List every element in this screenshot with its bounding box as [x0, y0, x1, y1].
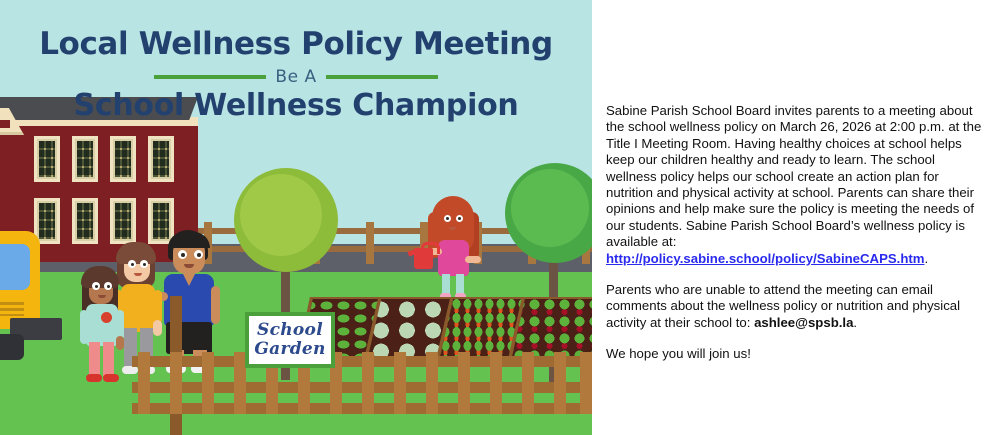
tree-highlight-right	[511, 169, 589, 247]
announcement-text-panel: Sabine Parish School Board invites paren…	[606, 103, 986, 363]
paragraph-2-period: .	[853, 315, 857, 330]
poster-tagline: Be A	[275, 67, 316, 87]
paragraph-1-text: Sabine Parish School Board invites paren…	[606, 103, 981, 249]
front-fence	[132, 352, 592, 414]
page-root: School Garden Local Wellness Policy Meet…	[0, 0, 1000, 435]
poster-headline-group: Local Wellness Policy Meeting Be A Schoo…	[0, 26, 592, 123]
school-bus-window	[0, 244, 30, 290]
school-bus-wheel	[0, 334, 24, 360]
girl-watering-figure	[424, 196, 482, 302]
apple-graphic	[101, 312, 112, 323]
school-window	[148, 136, 174, 182]
school-window	[72, 136, 98, 182]
poster-title-line-1: Local Wellness Policy Meeting	[0, 26, 592, 62]
poster-title-line-2: School Wellness Champion	[0, 89, 592, 123]
paragraph-1-period: .	[925, 251, 929, 266]
policy-link[interactable]: http://policy.sabine.school/policy/Sabin…	[606, 251, 925, 266]
sign-line-1: School	[257, 321, 323, 340]
school-window	[34, 136, 60, 182]
school-garden-sign: School Garden	[245, 312, 335, 368]
paragraph-meeting-details: Sabine Parish School Board invites paren…	[606, 103, 986, 267]
paragraph-closing: We hope you will join us!	[606, 346, 986, 362]
sign-line-2: Garden	[254, 340, 325, 359]
school-window	[110, 136, 136, 182]
rule-right	[326, 75, 438, 79]
paragraph-email-comments: Parents who are unable to attend the mee…	[606, 282, 986, 331]
poster-tagline-row: Be A	[0, 67, 592, 87]
wellness-poster-image: School Garden Local Wellness Policy Meet…	[0, 0, 592, 435]
school-bus-grill	[0, 302, 24, 316]
tree-highlight-left	[240, 174, 322, 256]
rule-left	[154, 75, 266, 79]
contact-email[interactable]: ashlee@spsb.la	[754, 315, 853, 330]
